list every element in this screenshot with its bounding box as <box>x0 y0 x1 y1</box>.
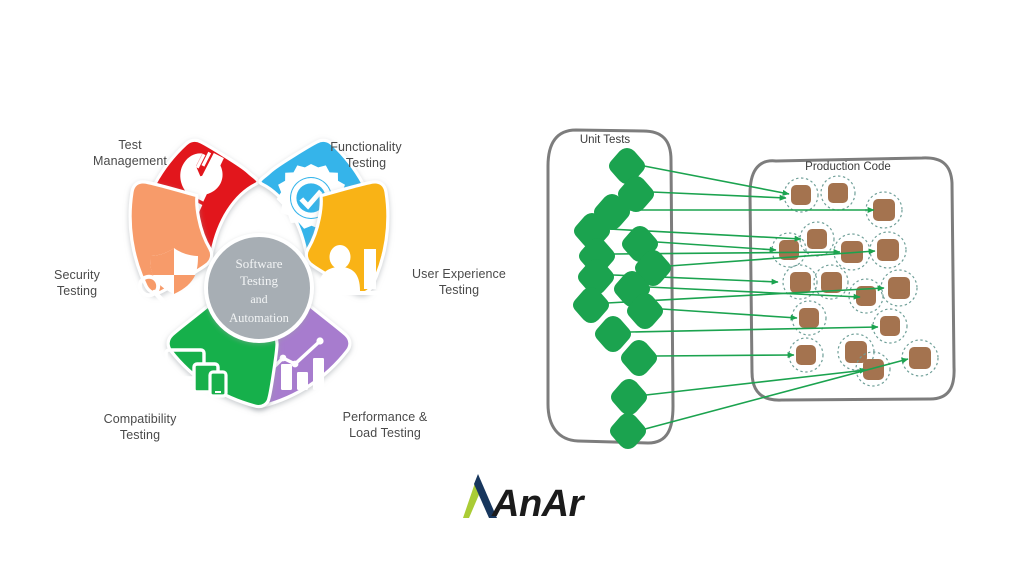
production-code-label: Production Code <box>805 161 891 173</box>
unit-test-coverage-diagram: Unit Tests Production Code <box>548 130 954 449</box>
wheel-center-line4: Automation <box>229 311 289 325</box>
wheel-label-test-management: Test Management <box>82 138 178 169</box>
wheel-label-security-testing: Security Testing <box>36 268 118 299</box>
slide-canvas: Software Testing and Automation Unit Tes… <box>0 0 1024 576</box>
wheel-center-line1: Software <box>236 256 283 271</box>
wheel-label-compatibility-testing: Compatibility Testing <box>88 412 192 443</box>
logo-wordmark: AnAr <box>491 483 586 525</box>
anar-logo[interactable]: AnAr <box>463 474 586 525</box>
wheel-center-line2: Testing <box>240 273 279 288</box>
wheel-center-line3: and <box>250 292 267 306</box>
testing-wheel: Software Testing and Automation <box>130 140 388 406</box>
wheel-label-functionality-testing: Functionality Testing <box>310 140 422 171</box>
wheel-label-performance-load-testing: Performance & Load Testing <box>330 410 440 441</box>
unit-tests-label: Unit Tests <box>580 134 631 146</box>
coverage-arrow <box>655 355 794 356</box>
wheel-label-user-experience-testing: User Experience Testing <box>404 267 514 298</box>
wheel-center-hub <box>206 235 312 341</box>
